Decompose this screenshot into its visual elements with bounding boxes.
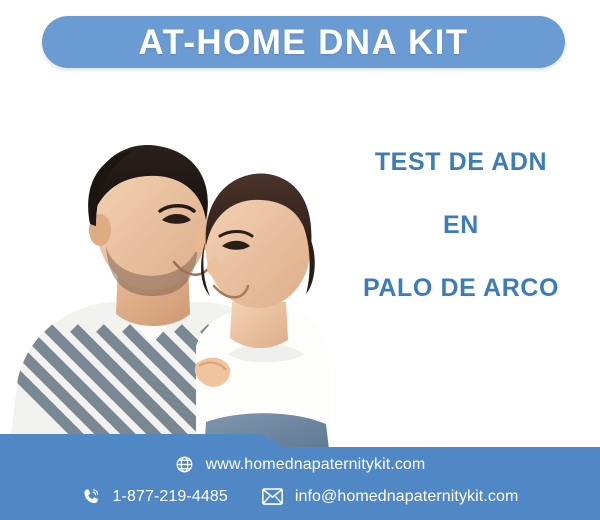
headline-line-2: EN xyxy=(330,213,592,238)
headline-line-1: TEST DE ADN xyxy=(330,150,592,175)
footer-email-item[interactable]: info@homednapaternitykit.com xyxy=(262,488,519,505)
headline-line-3: PALO DE ARCO xyxy=(330,276,592,301)
header-badge-label: AT-HOME DNA KIT xyxy=(138,25,468,60)
poster-canvas: AT-HOME DNA KIT xyxy=(0,0,600,520)
footer-website-text: www.homednapaternitykit.com xyxy=(206,457,426,473)
envelope-icon xyxy=(262,488,283,505)
footer-website-row: www.homednapaternitykit.com xyxy=(0,455,600,474)
footer-website-item[interactable]: www.homednapaternitykit.com xyxy=(175,455,426,474)
footer-email-text: info@homednapaternitykit.com xyxy=(295,489,519,505)
photo-illustration xyxy=(0,78,330,458)
footer-contact-row: 1-877-219-4485 info@homednapaternitykit.… xyxy=(0,487,600,506)
footer-phone-item[interactable]: 1-877-219-4485 xyxy=(82,487,228,506)
globe-icon xyxy=(175,455,194,474)
footer-band: www.homednapaternitykit.com 1-877-219-44… xyxy=(0,430,600,520)
footer-phone-text: 1-877-219-4485 xyxy=(113,489,228,505)
headline-block: TEST DE ADN EN PALO DE ARCO xyxy=(330,150,592,301)
father-and-child-photo xyxy=(0,78,330,458)
header-badge: AT-HOME DNA KIT xyxy=(42,16,565,68)
footer-content: www.homednapaternitykit.com 1-877-219-44… xyxy=(0,430,600,520)
phone-icon xyxy=(82,487,101,506)
